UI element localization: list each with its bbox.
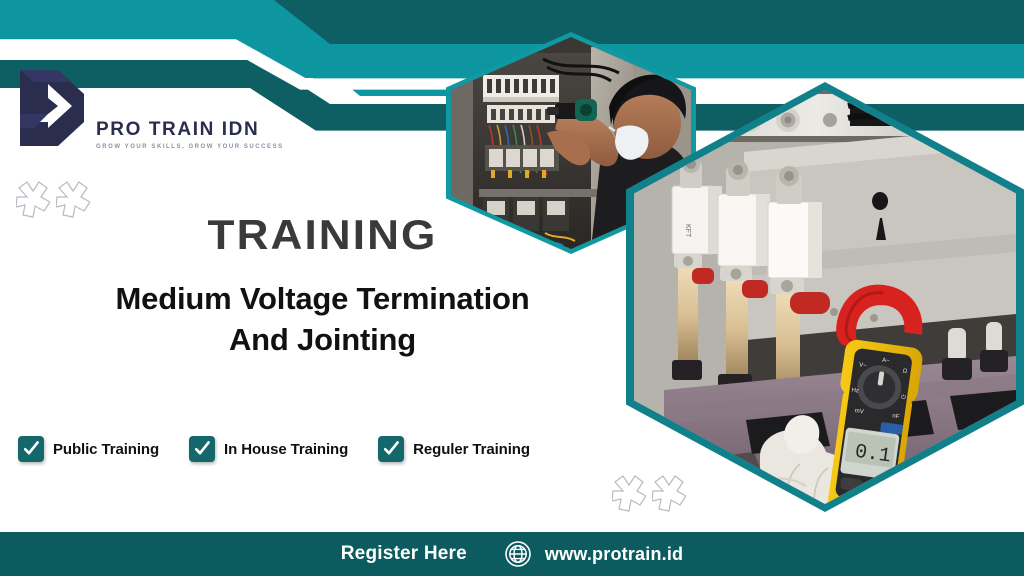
svg-text:mV: mV <box>854 408 864 415</box>
training-option-label: Reguler Training <box>413 441 530 458</box>
brand-name: PRO TRAIN IDN <box>96 120 284 139</box>
training-option-public[interactable]: Public Training <box>18 436 159 462</box>
svg-text:A~: A~ <box>882 357 891 364</box>
x-mark-icon <box>612 474 646 514</box>
brand-tagline: GROW YOUR SKILLS, GROW YOUR SUCCESS <box>96 144 284 150</box>
training-option-in-house[interactable]: In House Training <box>189 436 348 462</box>
protrain-arrow-logo-icon <box>14 60 90 158</box>
checkbox-checked-icon[interactable] <box>18 436 44 462</box>
training-option-label: Public Training <box>53 441 159 458</box>
page-title-line-2: And Jointing <box>229 322 416 357</box>
training-option-reguler[interactable]: Reguler Training <box>378 436 530 462</box>
globe-icon <box>505 541 531 567</box>
website-url[interactable]: www.protrain.id <box>545 544 683 565</box>
footer-bar: Register Here www.protrain.id <box>0 532 1024 576</box>
decor-x-marks-lower <box>612 474 686 514</box>
training-option-label: In House Training <box>224 441 348 458</box>
checkbox-checked-icon[interactable] <box>189 436 215 462</box>
checkbox-checked-icon[interactable] <box>378 436 404 462</box>
svg-text:V~: V~ <box>859 362 868 369</box>
brand-logo[interactable]: PRO TRAIN IDN GROW YOUR SKILLS, GROW YOU… <box>14 60 284 158</box>
poster-canvas: PRO TRAIN IDN GROW YOUR SKILLS, GROW YOU… <box>0 0 1024 576</box>
training-options-list: Public Training In House Training Regule… <box>18 436 530 462</box>
svg-text:nF: nF <box>892 413 900 420</box>
svg-text:KFT: KFT <box>684 224 691 238</box>
page-title: Medium Voltage Termination And Jointing <box>0 278 645 360</box>
website-group[interactable]: www.protrain.id <box>505 541 683 567</box>
x-mark-icon <box>652 474 686 514</box>
svg-text:Hz: Hz <box>851 388 859 395</box>
page-title-line-1: Medium Voltage Termination <box>116 281 530 316</box>
register-here-label[interactable]: Register Here <box>341 543 467 565</box>
